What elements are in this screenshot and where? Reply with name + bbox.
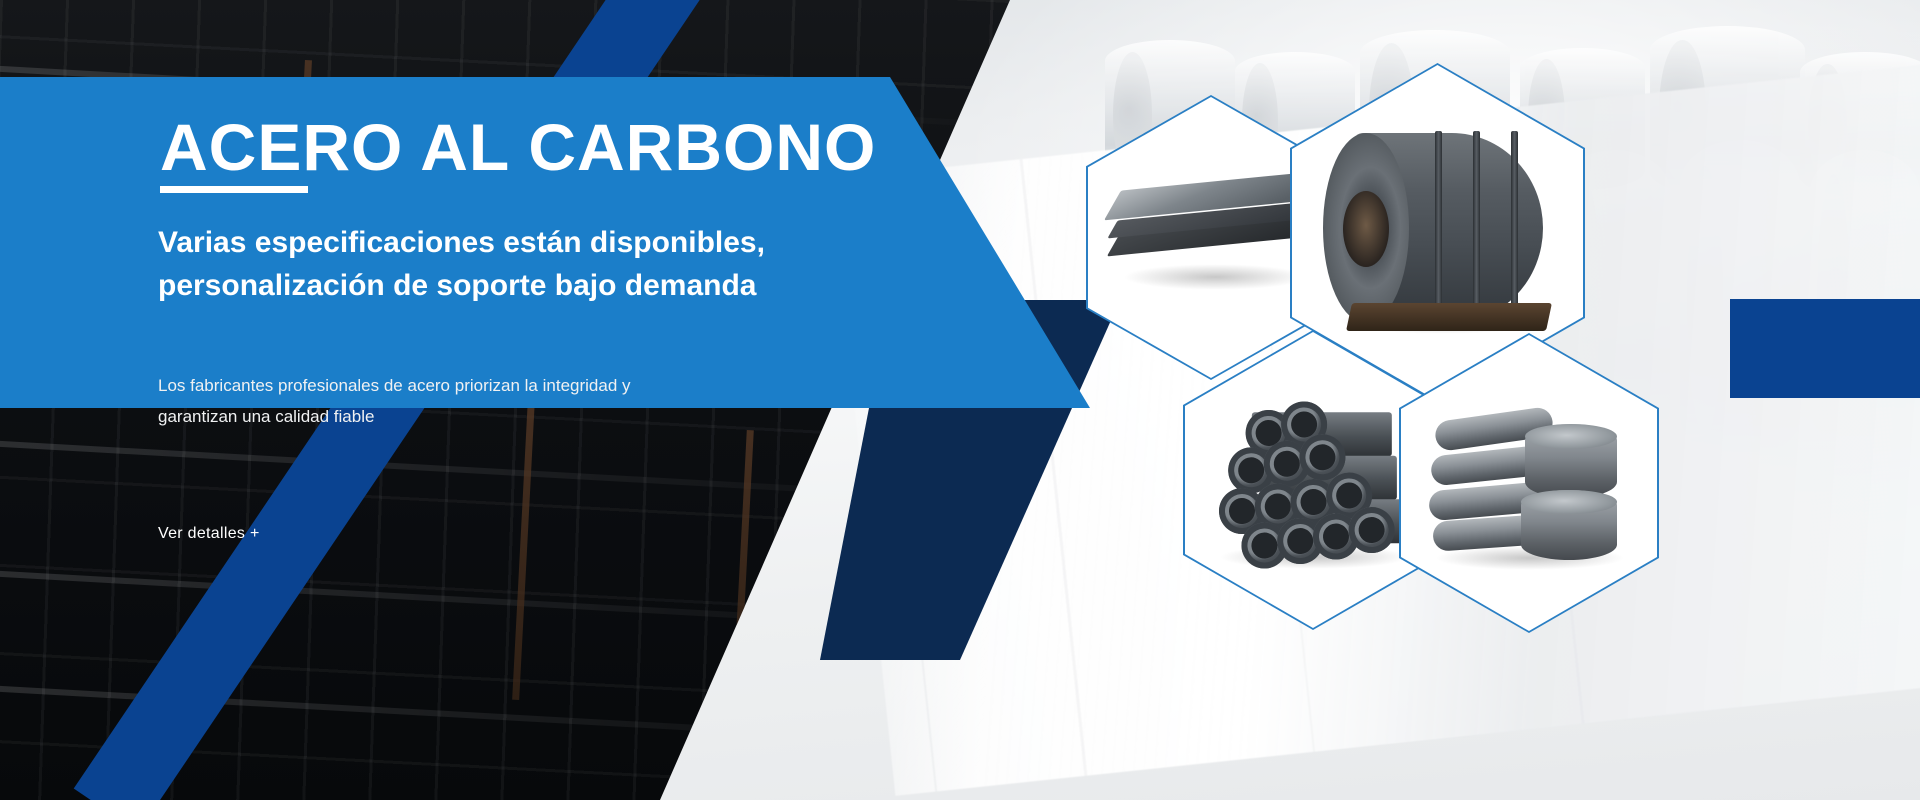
steel-bars-image xyxy=(1429,376,1629,589)
steel-pipes-image xyxy=(1213,373,1413,586)
hexagon-product-gallery xyxy=(0,0,1920,800)
steel-plate-image xyxy=(1115,136,1307,338)
carbon-steel-hero-banner: ACERO AL CARBONO Varias especificaciones… xyxy=(0,0,1920,800)
steel-coil-image xyxy=(1324,112,1551,354)
